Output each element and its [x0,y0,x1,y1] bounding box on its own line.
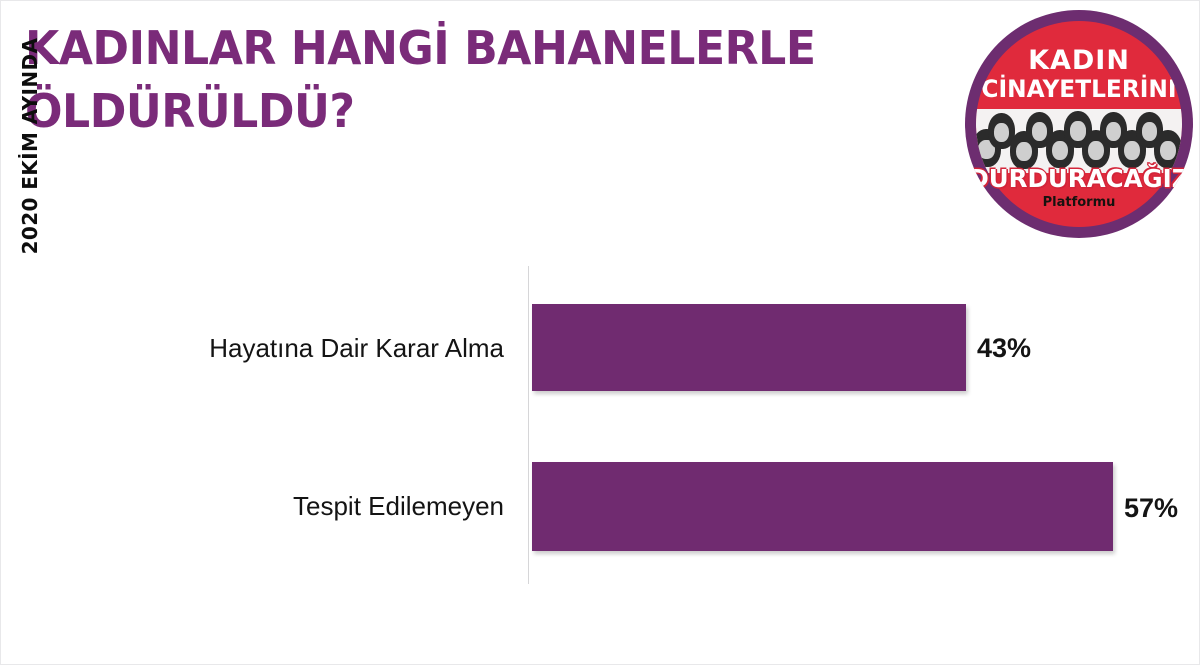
infographic-page: KADINLAR HANGİ BAHANELERLE ÖLDÜRÜLDÜ? KA… [0,0,1200,665]
y-axis-title: 2020 EKİM AYINDA [15,16,45,276]
logo-bottom-line-1: DURDURACAĞIZ [967,166,1190,191]
logo-top-line-1: KADIN [976,47,1182,74]
logo-top-text: KADIN CİNAYETLERİNİ [976,47,1182,101]
y-axis-line [528,266,529,584]
bar-tespit-edilemeyen [532,462,1113,551]
bar-category-label: Tespit Edilemeyen [293,491,504,521]
bar-value-label: 57% [1124,493,1178,523]
logo-bottom-text: DURDURACAĞIZ Platformu [965,166,1193,209]
bar-hayatina-dair-karar-alma [532,304,966,391]
bar-value-label: 43% [977,333,1031,363]
logo-top-line-2: CİNAYETLERİNİ [979,77,1179,101]
bar-category-label: Hayatına Dair Karar Alma [209,333,504,363]
logo-bottom-line-2: Platformu [965,196,1193,209]
